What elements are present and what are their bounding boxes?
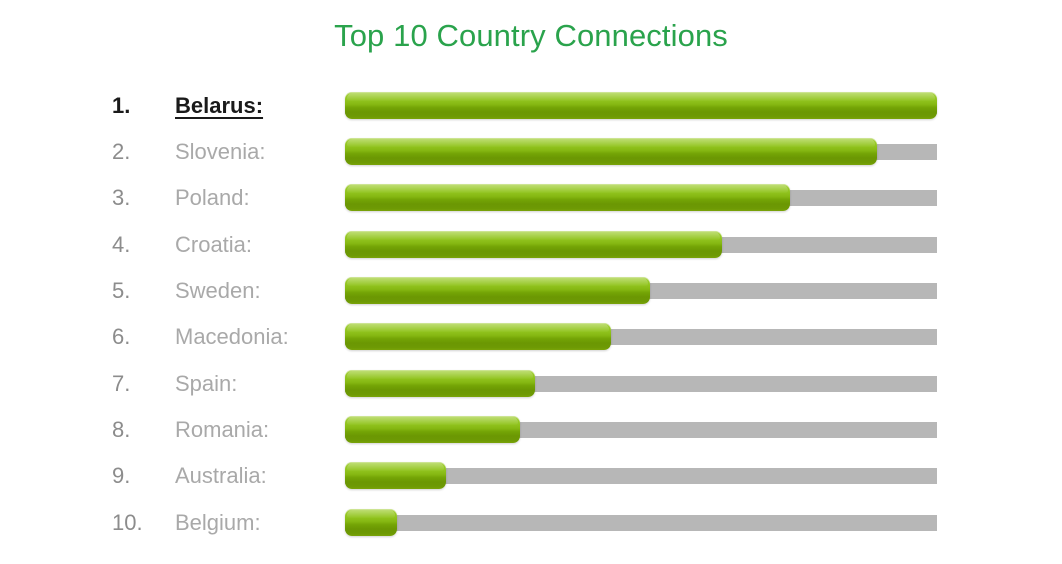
rank-number: 2. bbox=[112, 132, 164, 172]
rank-number: 7. bbox=[112, 364, 164, 404]
rank-number: 1. bbox=[112, 86, 164, 126]
country-label: Macedonia: bbox=[175, 317, 289, 357]
rank-number: 3. bbox=[112, 178, 164, 218]
list-item[interactable]: 7.Spain: bbox=[0, 364, 1062, 404]
country-label: Spain: bbox=[175, 364, 237, 404]
list-item[interactable]: 3.Poland: bbox=[0, 178, 1062, 218]
rank-number: 4. bbox=[112, 225, 164, 265]
country-label: Belgium: bbox=[175, 503, 261, 543]
list-item[interactable]: 2.Slovenia: bbox=[0, 132, 1062, 172]
bar-fill bbox=[345, 138, 877, 165]
bar-fill bbox=[345, 416, 520, 443]
list-item[interactable]: 8.Romania: bbox=[0, 410, 1062, 450]
bar-fill bbox=[345, 92, 937, 119]
list-item[interactable]: 4.Croatia: bbox=[0, 225, 1062, 265]
list-item[interactable]: 6.Macedonia: bbox=[0, 317, 1062, 357]
bar-fill bbox=[345, 462, 446, 489]
ranking-list: 1.Belarus:2.Slovenia:3.Poland:4.Croatia:… bbox=[0, 0, 1062, 564]
country-label: Croatia: bbox=[175, 225, 252, 265]
rank-number: 5. bbox=[112, 271, 164, 311]
rank-number: 6. bbox=[112, 317, 164, 357]
country-label: Slovenia: bbox=[175, 132, 266, 172]
country-label: Poland: bbox=[175, 178, 250, 218]
chart-container: Top 10 Country Connections 1.Belarus:2.S… bbox=[0, 0, 1062, 564]
country-label: Romania: bbox=[175, 410, 269, 450]
list-item[interactable]: 10.Belgium: bbox=[0, 503, 1062, 543]
bar-fill bbox=[345, 184, 790, 211]
bar-fill bbox=[345, 509, 397, 536]
bar-fill bbox=[345, 231, 722, 258]
bar-track bbox=[345, 515, 937, 531]
rank-number: 8. bbox=[112, 410, 164, 450]
list-item[interactable]: 9.Australia: bbox=[0, 456, 1062, 496]
list-item[interactable]: 1.Belarus: bbox=[0, 86, 1062, 126]
rank-number: 9. bbox=[112, 456, 164, 496]
country-label: Australia: bbox=[175, 456, 267, 496]
bar-fill bbox=[345, 277, 650, 304]
rank-number: 10. bbox=[112, 503, 164, 543]
country-label: Belarus: bbox=[175, 86, 263, 126]
bar-fill bbox=[345, 370, 535, 397]
country-label: Sweden: bbox=[175, 271, 261, 311]
bar-fill bbox=[345, 323, 611, 350]
list-item[interactable]: 5.Sweden: bbox=[0, 271, 1062, 311]
